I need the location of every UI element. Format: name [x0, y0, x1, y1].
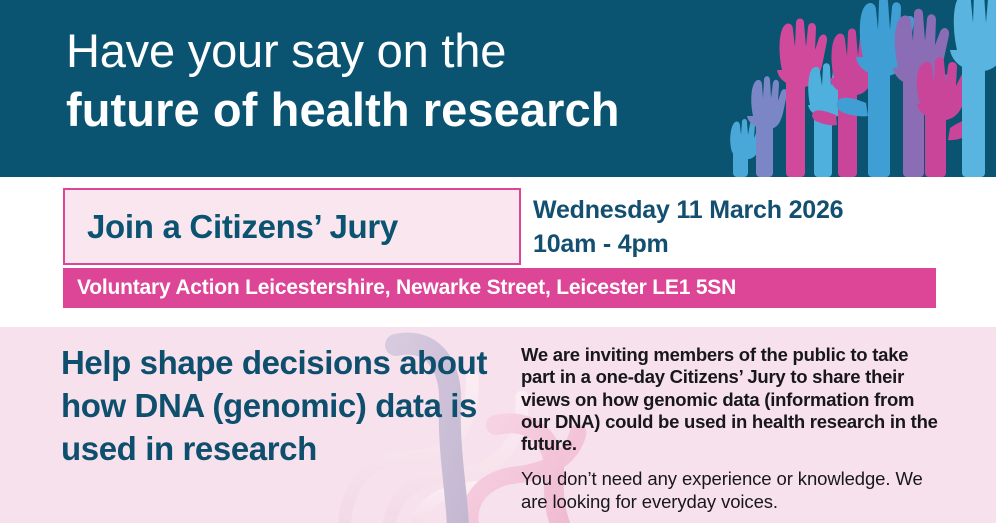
event-venue-label: Voluntary Action Leicestershire, Newarke… — [63, 276, 736, 300]
page-title: Have your say on the future of health re… — [66, 22, 756, 140]
main-heading: Help shape decisions about how DNA (geno… — [61, 341, 491, 470]
paragraph-primary: We are inviting members of the public to… — [521, 344, 941, 455]
join-jury-label: Join a Citizens’ Jury — [65, 208, 398, 246]
title-line-1: Have your say on the — [66, 22, 756, 80]
title-line-2: future of health research — [66, 80, 756, 140]
poster-root: Have your say on the future of health re… — [0, 0, 996, 523]
event-date: Wednesday 11 March 2026 — [533, 193, 953, 227]
main-text-column: We are inviting members of the public to… — [521, 344, 941, 513]
event-venue-bar: Voluntary Action Leicestershire, Newarke… — [63, 268, 936, 308]
main-content-section: Help shape decisions about how DNA (geno… — [0, 327, 996, 523]
paragraph-secondary: You don’t need any experience or knowled… — [521, 468, 941, 513]
event-datetime: Wednesday 11 March 2026 10am - 4pm — [533, 193, 953, 261]
event-time: 10am - 4pm — [533, 227, 953, 261]
join-jury-badge[interactable]: Join a Citizens’ Jury — [63, 188, 521, 265]
header-banner: Have your say on the future of health re… — [0, 0, 996, 177]
raised-hands-icon — [720, 0, 996, 177]
